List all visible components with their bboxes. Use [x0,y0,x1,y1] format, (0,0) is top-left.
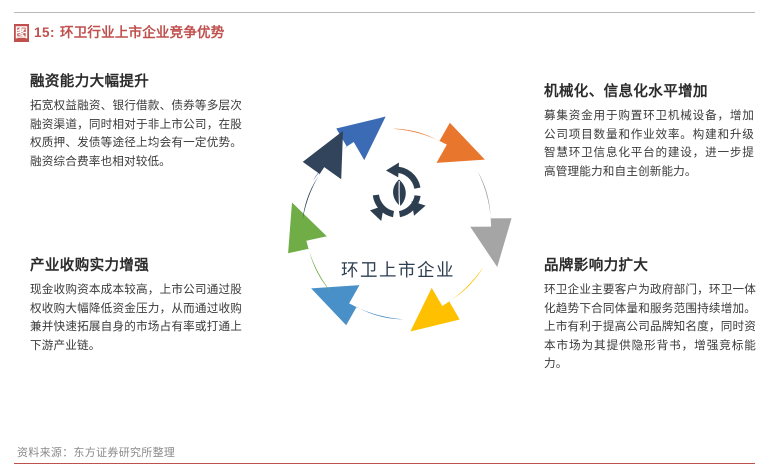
info-block-brand: 品牌影响力扩大 环卫企业主要客户为政府部门，环卫一体化趋势下合同体量和服务范围持… [544,257,756,374]
info-block-body: 募集资金用于购置环卫机械设备，增加公司项目数量和作业效率。构建和升级智慧环卫信息… [544,107,754,181]
page-title: 环卫行业上市企业竞争优势 [60,21,224,41]
segment-orange [389,115,489,169]
info-block-heading: 品牌影响力扩大 [544,257,756,275]
info-block-body: 拓宽权益融资、银行借款、债券等多层次融资渠道，同时相对于非上市公司，在股权质押、… [30,97,242,171]
cycle-diagram: 环卫上市企业 [253,74,543,384]
info-block-body: 环卫企业主要客户为政府部门，环卫一体化趋势下合同体量和服务范围持续增加。上市有利… [544,281,756,374]
top-rule [14,12,755,13]
info-block-acquisition: 产业收购实力增强 现金收购资本成本较高，上市公司通过股权收购大幅降低资金压力，从… [30,257,242,355]
info-block-body: 现金收购资本成本较高，上市公司通过股权收购大幅降低资金压力，从而通过收购兼并快速… [30,281,242,355]
figure-container: 图 15: 环卫行业上市企业竞争优势 融资能力大幅提升 拓宽权益融资、银行借款、… [14,12,755,464]
segment-yellow [402,250,494,351]
info-block-heading: 产业收购实力增强 [30,257,242,275]
segment-green [266,197,354,299]
info-block-heading: 融资能力大幅提升 [30,73,242,91]
source-note: 资料来源：东方证券研究所整理 [17,444,175,460]
info-block-heading: 机械化、信息化水平增加 [544,83,754,101]
bottom-rule [14,463,755,464]
recycle-leaf-icon [370,163,426,222]
cycle-diagram-svg [253,74,543,384]
segment-blue [302,97,394,198]
info-block-financing: 融资能力大幅提升 拓宽权益融资、银行借款、债券等多层次融资渠道，同时相对于非上市… [30,73,242,171]
segment-lightblue [307,279,407,333]
segment-gray [452,167,526,271]
figure-badge: 图 [14,24,29,42]
info-block-mechanization: 机械化、信息化水平增加 募集资金用于购置环卫机械设备，增加公司项目数量和作业效率… [544,83,754,181]
figure-number: 15: [34,25,55,40]
figure-title-row: 图 15: 环卫行业上市企业竞争优势 [14,21,224,42]
